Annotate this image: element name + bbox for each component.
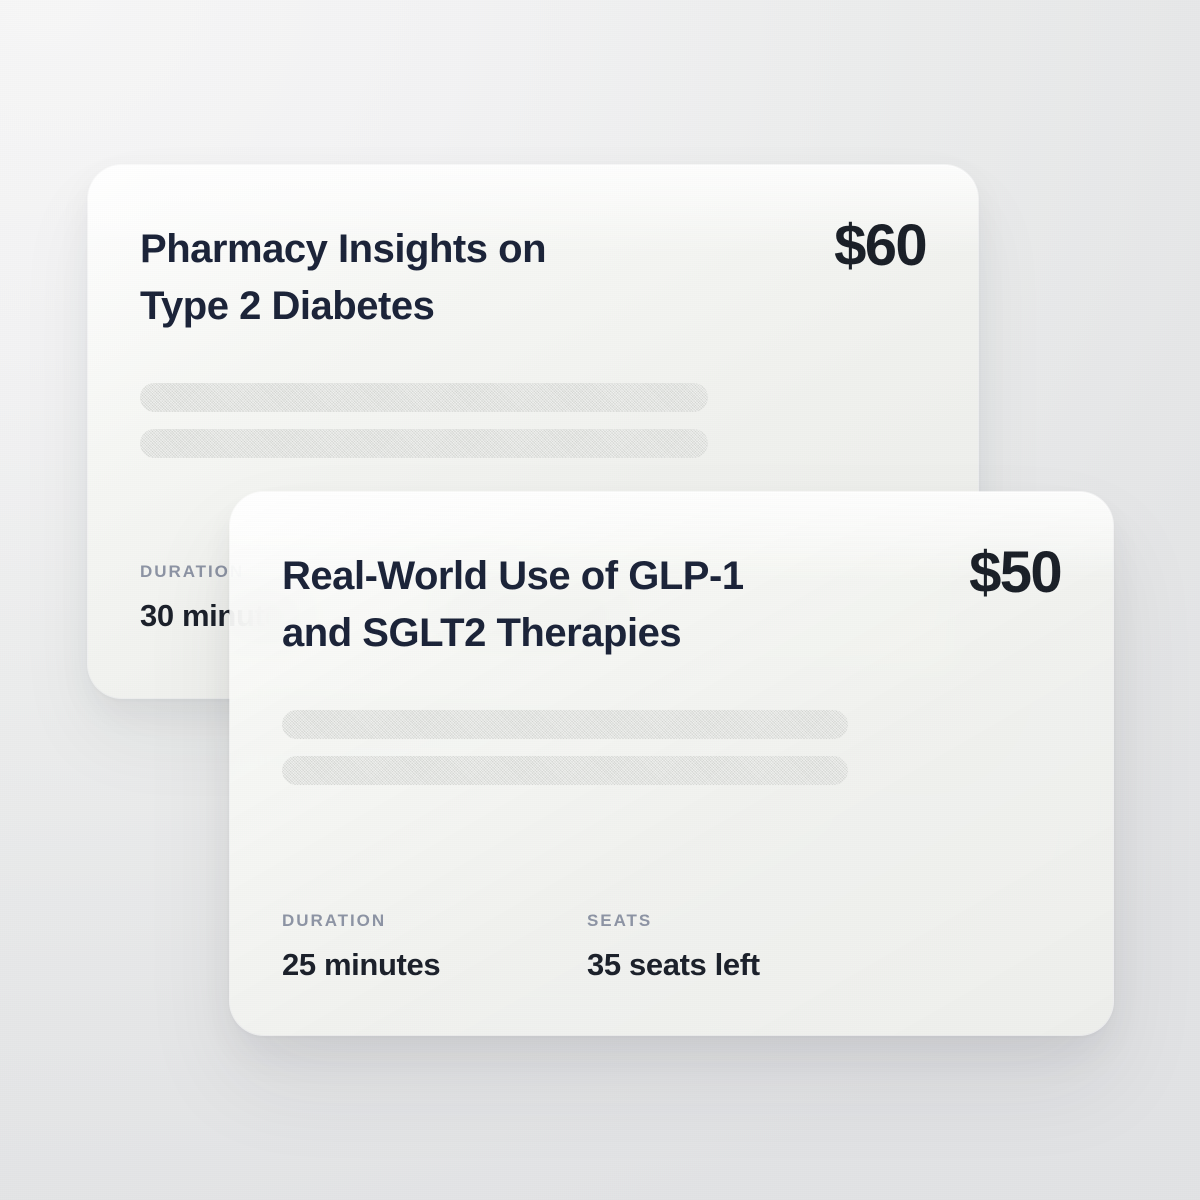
card-front-duration-label: DURATION xyxy=(282,911,587,931)
card-back-header: Pharmacy Insights on Type 2 Diabetes $60 xyxy=(140,221,926,335)
card-front-duration-value: 25 minutes xyxy=(282,947,587,983)
skeleton-line xyxy=(282,710,848,739)
card-back-title: Pharmacy Insights on Type 2 Diabetes xyxy=(140,221,546,335)
card-front-skeleton-group xyxy=(282,710,1061,785)
card-front-meta-row: DURATION 25 minutes SEATS 35 seats left xyxy=(282,911,1061,983)
card-front-title: Real-World Use of GLP-1 and SGLT2 Therap… xyxy=(282,548,744,662)
card-front-seats-value: 35 seats left xyxy=(587,947,892,983)
card-front-seats-label: SEATS xyxy=(587,911,892,931)
course-card-front[interactable]: Real-World Use of GLP-1 and SGLT2 Therap… xyxy=(230,492,1113,1035)
card-front-duration-block: DURATION 25 minutes xyxy=(282,911,587,983)
card-front-price: $50 xyxy=(969,544,1061,602)
card-back-price: $60 xyxy=(834,217,926,275)
skeleton-line xyxy=(282,756,848,785)
card-front-seats-block: SEATS 35 seats left xyxy=(587,911,892,983)
card-stack-stage: Pharmacy Insights on Type 2 Diabetes $60… xyxy=(0,0,1200,1200)
card-front-header: Real-World Use of GLP-1 and SGLT2 Therap… xyxy=(282,548,1061,662)
skeleton-line xyxy=(140,429,708,458)
skeleton-line xyxy=(140,383,708,412)
card-back-skeleton-group xyxy=(140,383,926,458)
